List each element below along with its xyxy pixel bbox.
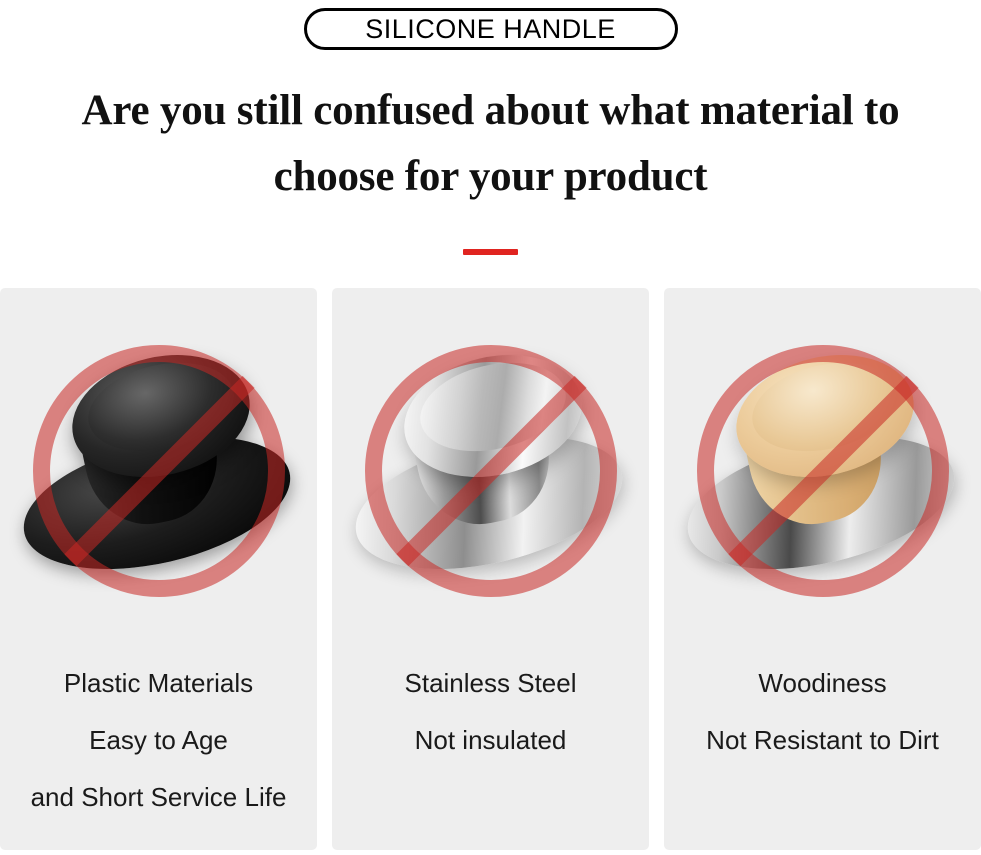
material-card-plastic: Plastic Materials Easy to Age and Short … [0,288,317,850]
card-caption-line: Not insulated [332,712,649,769]
card-captions-plastic: Plastic Materials Easy to Age and Short … [0,653,317,850]
badge-label: SILICONE HANDLE [365,16,616,43]
prohibition-icon [365,345,617,597]
prohibition-icon [33,345,285,597]
material-card-stainless-steel: Stainless Steel Not insulated [332,288,649,850]
card-caption-line: Not Resistant to Dirt [664,712,981,769]
card-caption-line: and Short Service Life [0,769,317,826]
card-caption-line: Woodiness [664,655,981,712]
card-media-woodiness [664,288,981,653]
wooden-pot-lid-knob-image [673,321,973,621]
headline-line-2: choose for your product [0,144,981,210]
card-caption-line: Easy to Age [0,712,317,769]
card-caption-line: Plastic Materials [0,655,317,712]
card-captions-stainless-steel: Stainless Steel Not insulated [332,653,649,850]
badge-row: SILICONE HANDLE [0,8,981,50]
stainless-steel-pot-lid-knob-image [341,321,641,621]
material-card-list: Plastic Materials Easy to Age and Short … [0,288,981,850]
headline-line-1: Are you still confused about what materi… [0,78,981,144]
silicone-handle-badge: SILICONE HANDLE [304,8,678,50]
card-captions-woodiness: Woodiness Not Resistant to Dirt [664,653,981,850]
red-divider [463,249,518,255]
prohibition-icon [697,345,949,597]
material-card-woodiness: Woodiness Not Resistant to Dirt [664,288,981,850]
black-plastic-pot-lid-knob-image [9,321,309,621]
divider-wrap [0,249,981,255]
card-media-plastic [0,288,317,653]
page-title: Are you still confused about what materi… [0,78,981,210]
card-caption-line: Stainless Steel [332,655,649,712]
card-media-stainless-steel [332,288,649,653]
